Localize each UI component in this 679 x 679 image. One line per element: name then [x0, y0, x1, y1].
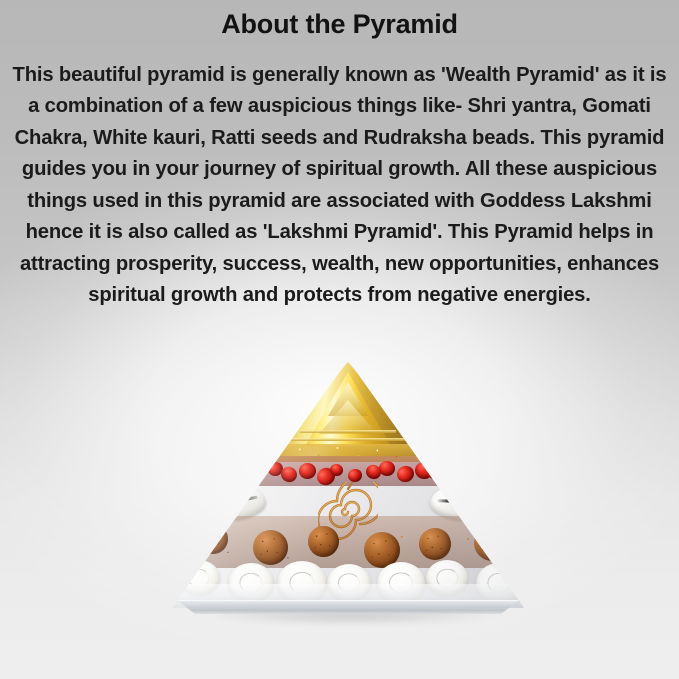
description-block: About the Pyramid This beautiful pyramid…	[0, 0, 679, 312]
rudraksha-bead	[198, 524, 228, 554]
pyramid-body	[172, 360, 524, 608]
resin-base-slab	[170, 600, 526, 614]
pyramid-stage	[150, 352, 545, 632]
yantra-base-bar-upper	[300, 430, 396, 433]
ratti-seed	[250, 465, 265, 480]
ratti-seed	[299, 463, 317, 480]
ratti-seed	[379, 461, 396, 477]
page-title: About the Pyramid	[4, 4, 675, 42]
description-paragraph: This beautiful pyramid is generally know…	[4, 42, 675, 312]
shri-yantra-layer	[172, 360, 524, 456]
ratti-seed	[230, 459, 247, 476]
product-image	[150, 352, 545, 632]
yantra-base-bar-lower	[289, 438, 407, 441]
ratti-seed	[427, 466, 441, 479]
product-detail-page: About the Pyramid This beautiful pyramid…	[0, 0, 679, 679]
ratti-seed	[443, 460, 462, 478]
